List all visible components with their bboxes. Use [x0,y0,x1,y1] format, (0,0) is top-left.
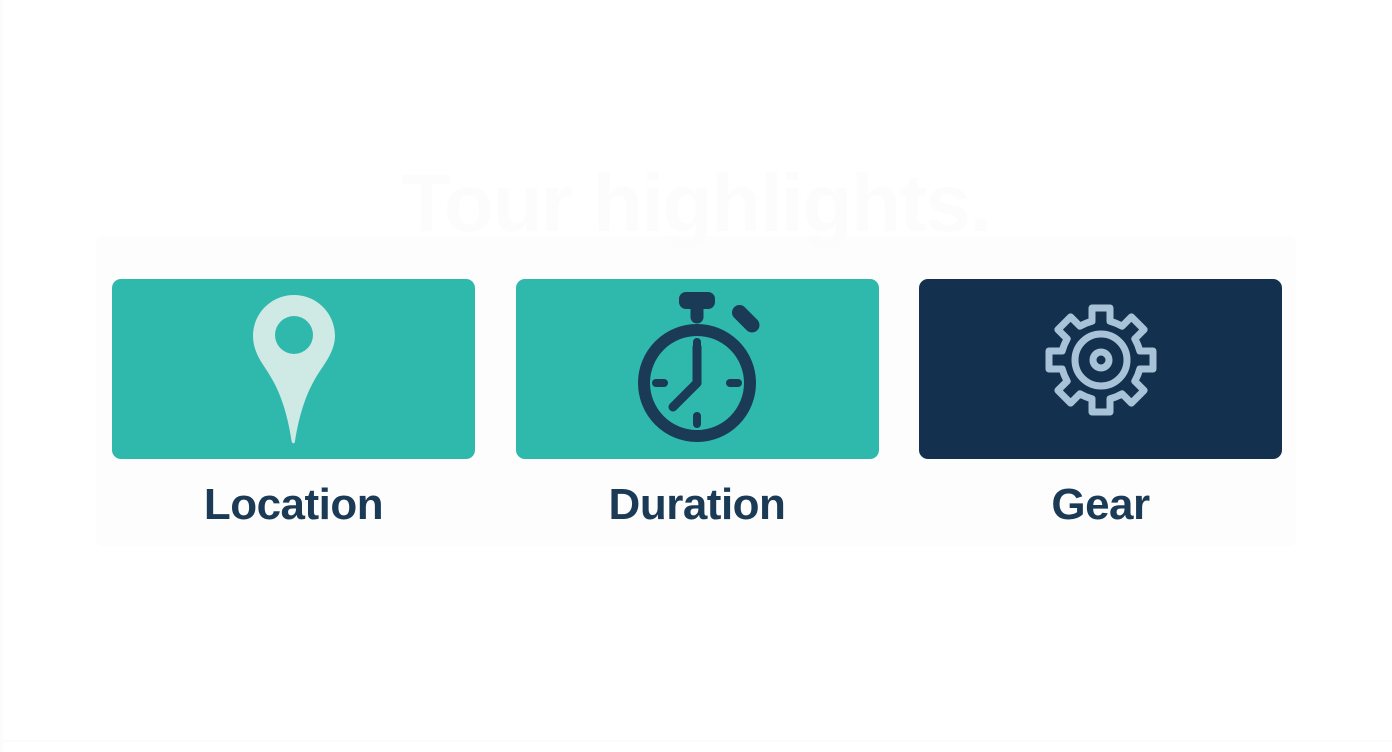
highlight-card-location[interactable]: Location [112,279,475,529]
card-label-duration: Duration [609,481,786,529]
left-edge-line [0,0,3,752]
duration-tile[interactable] [516,279,879,459]
card-label-location: Location [204,481,383,529]
page-title: Tour highlights. [0,163,1392,245]
highlights-page: Tour highlights. Location [0,0,1392,752]
gear-icon [1036,304,1166,434]
highlight-card-grid: Location [112,279,1282,529]
bottom-divider [0,740,1392,742]
highlight-card-gear[interactable]: Gear [919,279,1282,529]
gear-tile[interactable] [919,279,1282,459]
location-tile[interactable] [112,279,475,459]
stopwatch-icon [626,290,768,448]
map-pin-icon [246,293,342,445]
highlight-card-duration[interactable]: Duration [516,279,879,529]
card-label-gear: Gear [1051,481,1149,529]
